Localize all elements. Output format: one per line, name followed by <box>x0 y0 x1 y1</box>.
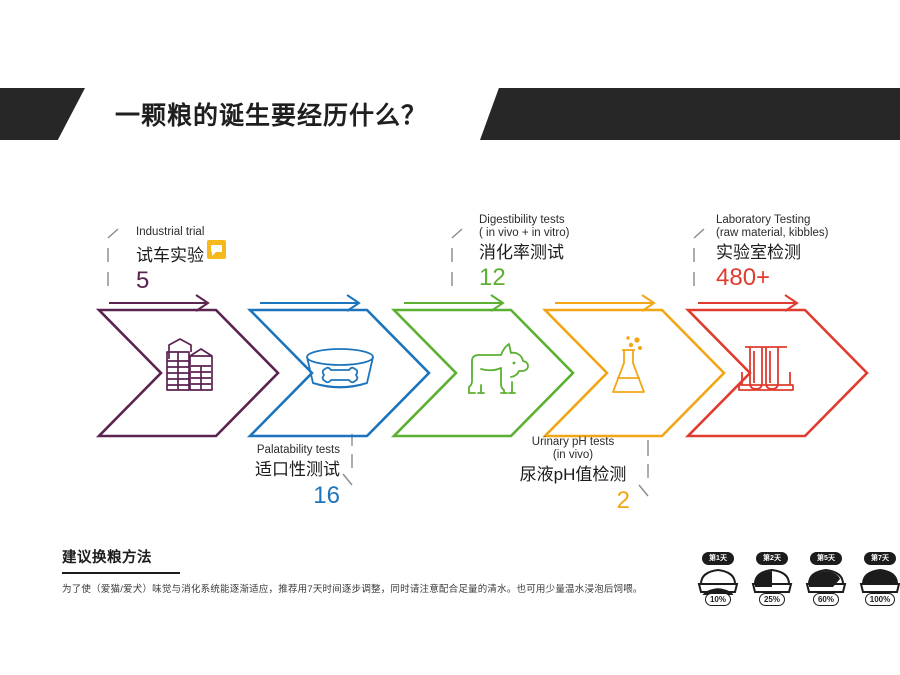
header-banner: 一颗粮的诞生要经历什么？ <box>0 88 900 140</box>
label-count: 16 <box>230 482 340 509</box>
label-en: Laboratory Testing <box>716 214 828 227</box>
comment-icon <box>207 240 226 259</box>
bowl-day-label: 第2天 <box>756 552 788 565</box>
flow-step-digestibility-tests[interactable] <box>394 295 573 436</box>
arrow-head-green <box>491 295 503 311</box>
flow-step-palatability-tests[interactable] <box>250 295 429 436</box>
dog-bowl-icon <box>307 349 373 388</box>
label-en: Industrial trial <box>136 226 226 239</box>
test-tubes-icon <box>739 347 793 390</box>
bowl-percentage: 100% <box>865 593 895 606</box>
label-en: Palatability tests <box>230 444 340 457</box>
flow-step-industrial-trial[interactable] <box>99 295 278 436</box>
bowl-item: 第5天 60% <box>802 552 850 606</box>
label-cn: 适口性测试 <box>230 458 340 481</box>
arrow-head-purple <box>196 295 208 311</box>
chevron-shape-orange <box>545 310 724 436</box>
note-divider <box>62 572 180 574</box>
label-industrial-trial: Industrial trial 试车实验 5 <box>136 226 226 294</box>
chevron-shape-red <box>688 310 867 436</box>
page-title: 一颗粮的诞生要经历什么？ <box>115 88 427 140</box>
bowl-item: 第2天 25% <box>748 552 796 606</box>
label-cn: 实验室检测 <box>716 241 828 264</box>
label-laboratory-testing: Laboratory Testing (raw material, kibble… <box>716 214 828 291</box>
label-en: Digestibility tests <box>479 214 569 227</box>
bowl-percentage: 25% <box>759 593 785 606</box>
chevron-shape-blue <box>250 310 429 436</box>
bowl-percentage: 10% <box>705 593 731 606</box>
bowl-day-label: 第1天 <box>702 552 734 565</box>
dog-icon <box>469 344 528 393</box>
label-count: 480+ <box>716 264 828 291</box>
arrow-head-blue <box>347 295 359 311</box>
bowl-item: 第1天 10% <box>694 552 742 606</box>
label-digestibility-tests: Digestibility tests ( in vivo + in vitro… <box>479 214 569 291</box>
label-urinary-ph-tests: Urinary pH tests (in vivo) 尿液pH值检测 2 <box>508 436 638 514</box>
label-cn: 尿液pH值检测 <box>508 463 638 486</box>
arrow-head-red <box>785 295 797 311</box>
transition-schedule: 第1天 10% 第2天 <box>694 552 900 606</box>
bowl-item: 第7天 100% <box>856 552 900 606</box>
label-en: Urinary pH tests <box>508 436 638 449</box>
infographic-canvas: 一颗粮的诞生要经历什么？ <box>0 0 900 675</box>
label-count: 12 <box>479 264 569 291</box>
flow-step-laboratory-testing[interactable] <box>688 295 867 436</box>
bowl-percentage: 60% <box>813 593 839 606</box>
silo-icon <box>167 339 212 390</box>
label-palatability-tests: Palatability tests 适口性测试 16 <box>230 444 340 509</box>
arrow-head-orange <box>642 295 654 311</box>
banner-left-shape <box>0 88 85 140</box>
bowl-day-label: 第7天 <box>864 552 896 565</box>
banner-right-shape <box>480 88 900 140</box>
flask-icon <box>613 336 644 392</box>
chevron-shape-green <box>394 310 573 436</box>
bowl-day-label: 第5天 <box>810 552 842 565</box>
label-cn: 消化率测试 <box>479 241 569 264</box>
label-count: 2 <box>508 487 638 514</box>
feeding-note: 建议换粮方法 为了使（爱猫/爱犬）味觉与消化系统能逐渐适应，推荐用7天时间逐步调… <box>62 546 643 596</box>
label-cn: 试车实验 <box>136 240 226 267</box>
label-count: 5 <box>136 267 226 294</box>
flow-step-urinary-ph-tests[interactable] <box>545 295 724 436</box>
label-en-2: ( in vivo + in vitro) <box>479 227 569 240</box>
label-en-2: (in vivo) <box>508 449 638 462</box>
chevron-shape-purple <box>99 310 278 436</box>
note-heading: 建议换粮方法 <box>62 546 643 567</box>
note-body: 为了使（爱猫/爱犬）味觉与消化系统能逐渐适应，推荐用7天时间逐步调整，同时请注意… <box>62 583 643 596</box>
label-en-2: (raw material, kibbles) <box>716 227 828 240</box>
